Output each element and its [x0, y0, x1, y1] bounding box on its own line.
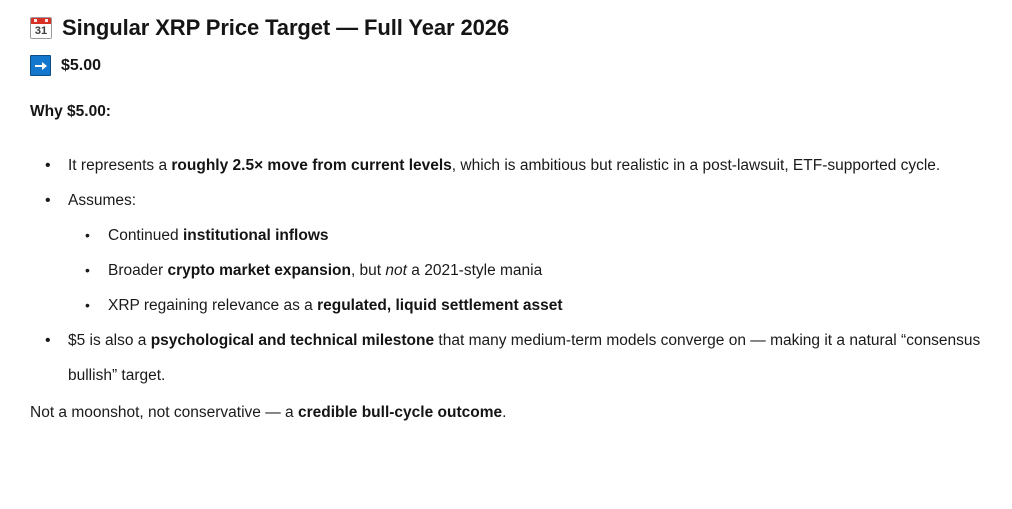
emphasis-bold: crypto market expansion: [167, 262, 350, 279]
right-arrow-icon: [30, 55, 51, 76]
text-run: Continued: [108, 227, 183, 244]
page-title: 31 Singular XRP Price Target — Full Year…: [0, 0, 1012, 42]
text-run: .: [502, 404, 506, 421]
text-run: , but: [351, 262, 385, 279]
text-run: , which is ambitious but realistic in a …: [452, 157, 940, 174]
text-run: It represents a: [68, 157, 171, 174]
calendar-ring-right: [45, 19, 48, 22]
bullet-valuation-move: It represents a roughly 2.5× move from c…: [0, 148, 1012, 183]
emphasis-italic: not: [385, 262, 407, 279]
text-run: Broader: [108, 262, 167, 279]
calendar-ring-left: [34, 19, 37, 22]
bullet-psychological-milestone: $5 is also a psychological and technical…: [0, 323, 1012, 393]
text-run: $5 is also a: [68, 332, 151, 349]
emphasis-bold: regulated, liquid settlement asset: [317, 297, 562, 314]
bullet-assumes: Assumes:: [0, 183, 1012, 218]
page-title-text: Singular XRP Price Target — Full Year 20…: [62, 14, 509, 42]
text-run: XRP regaining relevance as a: [108, 297, 317, 314]
subitem-settlement-asset: XRP regaining relevance as a regulated, …: [0, 288, 1012, 323]
document-page: 31 Singular XRP Price Target — Full Year…: [0, 0, 1012, 509]
emphasis-bold: institutional inflows: [183, 227, 329, 244]
price-target-value: $5.00: [61, 56, 101, 76]
emphasis-bold: roughly 2.5× move from current levels: [171, 157, 451, 174]
reasons-list: It represents a roughly 2.5× move from c…: [0, 148, 1012, 393]
calendar-day-number: 31: [31, 24, 51, 38]
emphasis-bold: credible bull-cycle outcome: [298, 404, 502, 421]
subitem-institutional-inflows: Continued institutional inflows: [0, 218, 1012, 253]
emphasis-bold: psychological and technical milestone: [151, 332, 434, 349]
price-target-row: $5.00: [0, 42, 1012, 76]
text-run: Not a moonshot, not conservative — a: [30, 404, 298, 421]
closing-statement: Not a moonshot, not conservative — a cre…: [0, 393, 1012, 424]
text-run: Assumes:: [68, 192, 136, 209]
subitem-market-expansion: Broader crypto market expansion, but not…: [0, 253, 1012, 288]
text-run: a 2021-style mania: [407, 262, 542, 279]
arrow-head: [42, 62, 47, 70]
why-heading: Why $5.00:: [0, 76, 1012, 122]
assumptions-list: Continued institutional inflowsBroader c…: [0, 218, 1012, 323]
calendar-icon: 31: [30, 17, 52, 39]
